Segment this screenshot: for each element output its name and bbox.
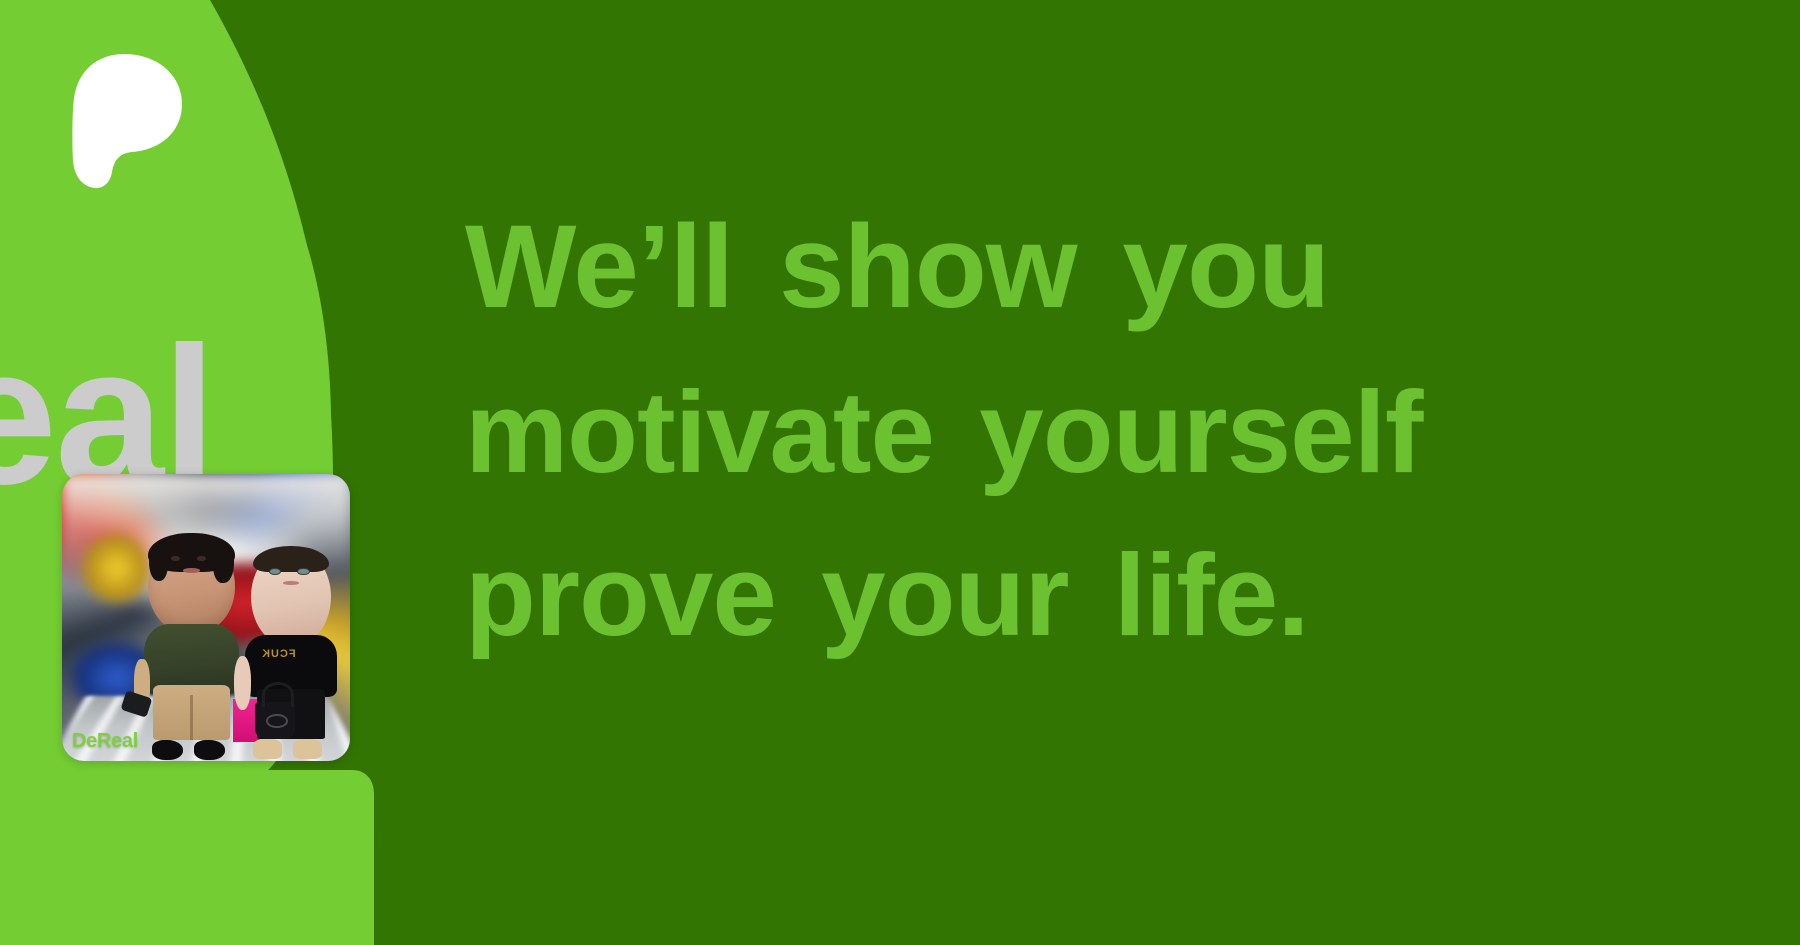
black-handbag <box>255 702 295 739</box>
person-left-head <box>148 537 235 633</box>
person-left-shoe <box>194 740 225 760</box>
person-left-hair-side <box>149 543 168 581</box>
handbag-logo-icon <box>266 714 288 728</box>
person-right-hair <box>253 546 330 573</box>
person-left-lips <box>183 568 200 573</box>
tshirt-print-text: FCUK <box>261 648 296 660</box>
person-right-head <box>251 549 331 644</box>
headline-line-1: We’ll show you <box>465 196 1765 340</box>
person-right: FCUK <box>243 549 338 756</box>
person-right-arm <box>234 656 251 710</box>
person-right-lips <box>283 581 299 585</box>
headline-line-3: prove your life. <box>465 525 1765 667</box>
person-left-hair-side <box>213 543 234 583</box>
person-right-eye <box>297 568 309 576</box>
person-left-trousers <box>153 685 230 740</box>
headline-line-2: motivate yourself <box>465 362 1765 504</box>
person-right-eye <box>269 568 281 576</box>
person-left <box>140 537 244 755</box>
bereal-blob-logo-icon <box>70 52 184 190</box>
person-right-shoe <box>253 739 282 760</box>
photo-watermark: DeReal <box>72 730 138 753</box>
photo-card[interactable]: FCUK DeReal <box>62 474 350 761</box>
person-left-shoe <box>152 740 183 760</box>
photo-scene: FCUK <box>62 474 350 761</box>
person-right-shoe <box>293 739 322 760</box>
headline: We’ll show you motivate yourself prove y… <box>465 196 1765 667</box>
person-left-sweater <box>144 624 239 694</box>
promo-banner: eal <box>0 0 1800 945</box>
